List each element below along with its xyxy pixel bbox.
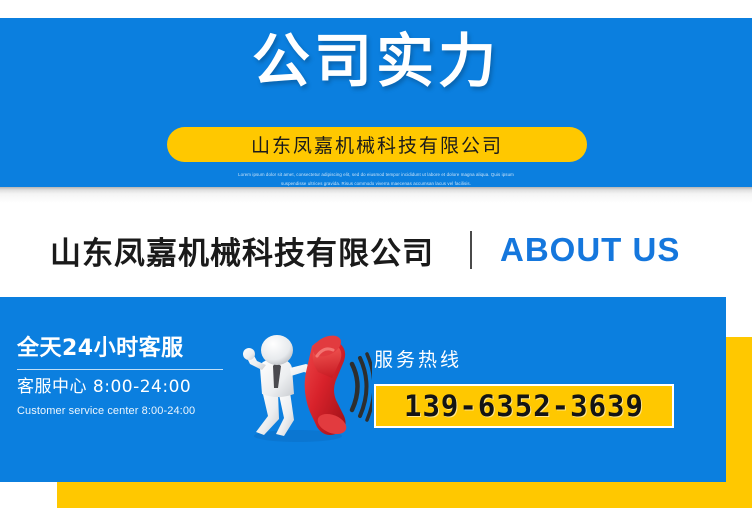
- decor-bar-right: [726, 337, 752, 508]
- decor-bar-bottom: [57, 482, 726, 508]
- phone-handset-mascot-icon: [232, 332, 372, 444]
- hero-description-text: Lorem ipsum dolor sit amet, consectetur …: [226, 170, 526, 187]
- service-divider: [17, 369, 223, 370]
- service-heading: 全天24小时客服: [17, 337, 239, 361]
- about-divider: [470, 231, 472, 269]
- service-hours-block: 全天24小时客服 客服中心 8:00-24:00 Customer servic…: [17, 337, 239, 417]
- service-hours-en: Customer service center 8:00-24:00: [17, 405, 239, 417]
- hotline-block: 服务热线 139-6352-3639: [374, 345, 686, 428]
- about-section: 山东凤嘉机械科技有限公司 ABOUT US: [0, 203, 752, 297]
- page-title: 公司实力: [0, 32, 752, 90]
- company-name-pill: 山东凤嘉机械科技有限公司: [167, 127, 587, 162]
- hotline-number: 139-6352-3639: [404, 389, 644, 423]
- hotline-label: 服务热线: [374, 345, 686, 372]
- hero-banner: 公司实力 山东凤嘉机械科技有限公司 Lorem ipsum dolor sit …: [0, 18, 752, 187]
- about-company-name: 山东凤嘉机械科技有限公司: [50, 228, 434, 273]
- service-hours-cn: 客服中心 8:00-24:00: [17, 377, 239, 397]
- hotline-number-box[interactable]: 139-6352-3639: [374, 384, 674, 428]
- hero-drop-shadow: [0, 187, 752, 203]
- company-name-pill-label: 山东凤嘉机械科技有限公司: [251, 131, 503, 158]
- about-title-en: ABOUT US: [500, 231, 680, 269]
